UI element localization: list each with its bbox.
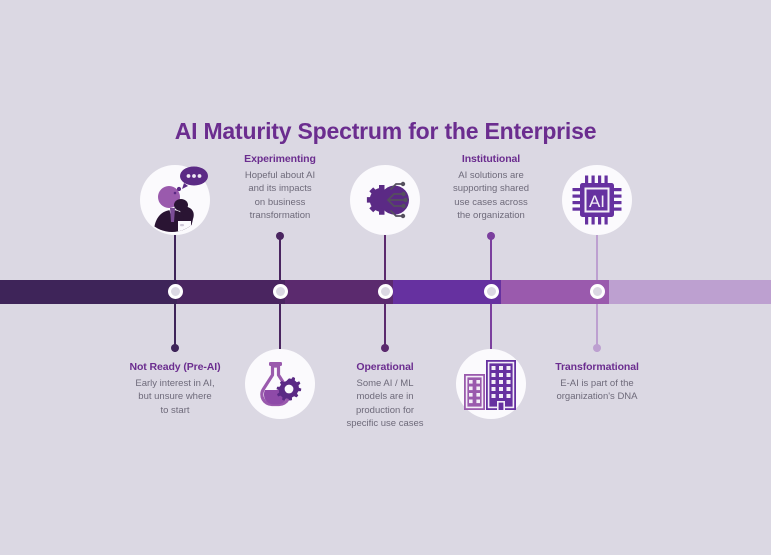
timeline-node-not-ready[interactable]	[168, 284, 183, 299]
stage-description-not-ready: Early interest in AI,but unsure whereto …	[109, 377, 241, 417]
connector-end-dot-not-ready	[171, 344, 179, 352]
flask-gear-icon	[254, 358, 306, 410]
gear-circuit-icon	[358, 175, 412, 225]
svg-text:AI: AI	[589, 192, 605, 211]
connector-text-transformational	[596, 304, 598, 352]
stage-description-institutional: AI solutions aresupporting shareduse cas…	[425, 169, 557, 223]
timeline-segment-1	[177, 280, 285, 304]
connector-text-institutional	[490, 232, 492, 280]
connector-end-dot-transformational	[593, 344, 601, 352]
page-title: AI Maturity Spectrum for the Enterprise	[0, 118, 771, 145]
stage-heading-not-ready: Not Ready (Pre-AI)	[109, 361, 241, 374]
connector-end-dot-experimenting	[276, 232, 284, 240]
stage-text-not-ready: Not Ready (Pre-AI)Early interest in AI,b…	[109, 361, 241, 417]
stage-icon-bubble-not-ready	[140, 165, 210, 235]
stage-text-operational: OperationalSome AI / MLmodels are inprod…	[319, 361, 451, 431]
timeline-segment-0	[0, 280, 177, 304]
connector-text-not-ready	[174, 304, 176, 352]
timeline-node-transformational[interactable]	[590, 284, 605, 299]
stage-description-transformational: E-AI is part of theorganization's DNA	[531, 377, 663, 404]
stage-text-experimenting: ExperimentingHopeful about AIand its imp…	[214, 153, 346, 223]
stage-icon-bubble-experimenting	[245, 349, 315, 419]
stage-icon-bubble-operational	[350, 165, 420, 235]
stage-description-operational: Some AI / MLmodels are inproduction fors…	[319, 377, 451, 431]
timeline-segment-2	[285, 280, 393, 304]
timeline-node-institutional[interactable]	[484, 284, 499, 299]
stage-heading-institutional: Institutional	[425, 153, 557, 166]
timeline-node-experimenting[interactable]	[273, 284, 288, 299]
stage-icon-bubble-institutional	[456, 349, 526, 419]
connector-end-dot-operational	[381, 344, 389, 352]
stage-heading-operational: Operational	[319, 361, 451, 374]
buildings-icon	[462, 357, 520, 411]
ai-chip-icon: AI	[571, 174, 623, 226]
timeline-segment-5	[609, 280, 771, 304]
timeline-node-operational[interactable]	[378, 284, 393, 299]
stage-icon-bubble-transformational: AI	[562, 165, 632, 235]
infographic-canvas: AI Maturity Spectrum for the Enterprise	[0, 0, 771, 555]
connector-text-experimenting	[279, 232, 281, 280]
stage-text-transformational: TransformationalE-AI is part of theorgan…	[531, 361, 663, 404]
connector-text-operational	[384, 304, 386, 352]
connector-end-dot-institutional	[487, 232, 495, 240]
stage-text-institutional: InstitutionalAI solutions aresupporting …	[425, 153, 557, 223]
thinking-person-icon	[138, 163, 212, 237]
stage-description-experimenting: Hopeful about AIand its impactson busine…	[214, 169, 346, 223]
stage-heading-experimenting: Experimenting	[214, 153, 346, 166]
stage-heading-transformational: Transformational	[531, 361, 663, 374]
